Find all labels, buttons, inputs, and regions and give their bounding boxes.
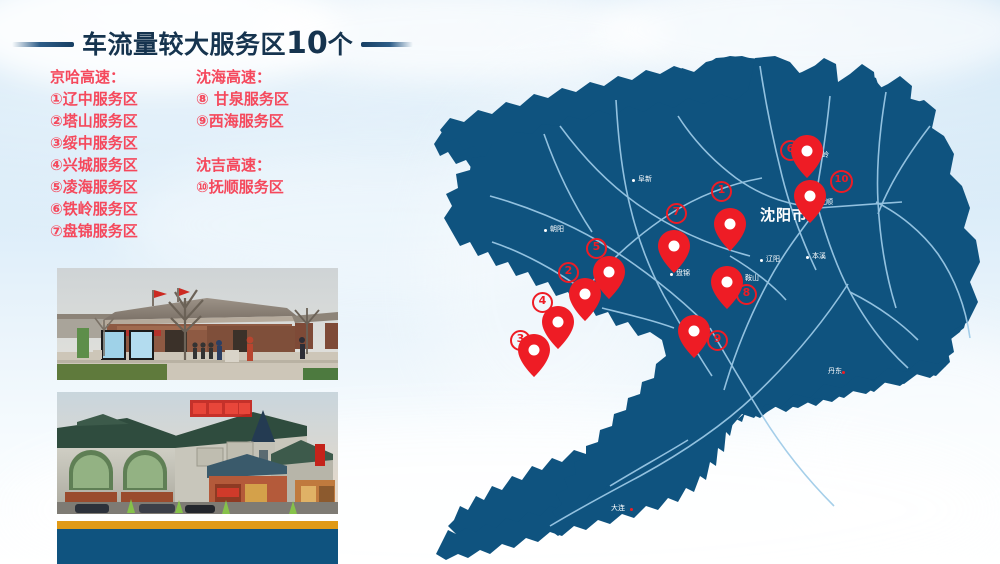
title-unit-text: 个	[328, 30, 354, 59]
photo-accent-bar	[57, 521, 338, 529]
city-label-shenyang: 沈阳市	[760, 204, 808, 225]
city-dot-yingkou	[682, 322, 685, 325]
city-dot-chaoyang	[544, 229, 547, 232]
city-label-chaoyang: 朝阳	[550, 224, 564, 234]
list-item[interactable]: ⑩抚顺服务区	[196, 176, 346, 198]
list-item[interactable]: ⑦盘锦服务区	[50, 220, 180, 242]
service-area-list: 京哈高速： ①辽中服务区 ②塔山服务区 ③绥中服务区 ④兴城服务区 ⑤凌海服务区…	[50, 66, 380, 242]
marker-number-1[interactable]: 1	[711, 181, 732, 202]
list-item[interactable]: ③绥中服务区	[50, 132, 180, 154]
group-heading-shenji: 沈吉高速：	[196, 154, 346, 176]
title-main-text: 车流量较大服务区	[82, 30, 286, 59]
city-dot-dandong	[842, 371, 845, 374]
marker-number-3[interactable]: 3	[510, 330, 531, 351]
photo-service-area-building	[57, 392, 338, 514]
city-label-yingkou: 营口	[688, 317, 702, 327]
city-label-fuxin: 阜新	[638, 174, 652, 184]
group-heading-shenhai: 沈海高速：	[196, 66, 346, 88]
marker-number-4[interactable]: 4	[532, 292, 553, 313]
list-item[interactable]: ②塔山服务区	[50, 110, 180, 132]
slide-canvas: 车流量较大服务区10个 京哈高速： ①辽中服务区 ②塔山服务区 ③绥中服务区 ④…	[0, 0, 1000, 564]
list-item[interactable]: ⑨西海服务区	[196, 110, 346, 132]
city-label-jinzhou: 锦州	[604, 276, 618, 286]
marker-number-10[interactable]: 10	[830, 170, 853, 193]
city-dot-panjin	[670, 273, 673, 276]
city-dot-fushun	[813, 202, 816, 205]
photo-caption-block	[57, 529, 338, 564]
city-label-dandong: 丹东	[828, 366, 842, 376]
map-artwork	[430, 56, 1000, 564]
title-count-number: 10	[286, 26, 328, 61]
list-column-shenhai-shenji: 沈海高速： ⑧ 甘泉服务区 ⑨西海服务区 沈吉高速： ⑩抚顺服务区	[196, 66, 346, 242]
city-dot-dalian	[630, 508, 633, 511]
list-item[interactable]: ⑥铁岭服务区	[50, 198, 180, 220]
marker-number-8[interactable]: 8	[736, 284, 757, 305]
city-label-panjin: 盘锦	[676, 268, 690, 278]
list-item[interactable]: ⑤凌海服务区	[50, 176, 180, 198]
city-dot-anshan	[739, 278, 742, 281]
photo-1-artwork	[57, 268, 338, 380]
marker-number-6[interactable]: 6	[780, 140, 801, 161]
city-dot-fuxin	[632, 179, 635, 182]
city-dot-tieling	[809, 155, 812, 158]
liaoning-province-map: 铁岭 抚顺 沈阳市 阜新 朝阳 锦州 盘锦 辽阳 本溪 鞍山 营口 丹东 大连	[430, 56, 1000, 564]
city-dot-liaoyang	[760, 259, 763, 262]
marker-number-7[interactable]: 7	[666, 203, 687, 224]
city-label-liaoyang: 辽阳	[766, 254, 780, 264]
city-label-benxi: 本溪	[812, 251, 826, 261]
title-rule-left-icon	[12, 42, 74, 47]
title-rule-right-icon	[361, 42, 413, 47]
page-title: 车流量较大服务区10个	[12, 26, 432, 62]
list-spacer	[196, 132, 346, 154]
city-dot-jinzhou	[598, 281, 601, 284]
photo-2-artwork	[57, 392, 338, 514]
list-item[interactable]: ⑧ 甘泉服务区	[196, 88, 346, 110]
marker-number-2[interactable]: 2	[558, 262, 579, 283]
list-column-jingha: 京哈高速： ①辽中服务区 ②塔山服务区 ③绥中服务区 ④兴城服务区 ⑤凌海服务区…	[50, 66, 180, 242]
city-label-anshan: 鞍山	[745, 273, 759, 283]
city-label-dalian: 大连	[611, 503, 625, 513]
group-heading-jingha: 京哈高速：	[50, 66, 180, 88]
city-dot-benxi	[806, 256, 809, 259]
city-label-tieling: 铁岭	[815, 150, 829, 160]
marker-number-9[interactable]: 9	[707, 330, 728, 351]
marker-number-5[interactable]: 5	[586, 238, 607, 259]
city-label-fushun: 抚顺	[819, 197, 833, 207]
photo-service-area-exterior	[57, 268, 338, 380]
page-title-text: 车流量较大服务区10个	[82, 29, 353, 59]
list-item[interactable]: ④兴城服务区	[50, 154, 180, 176]
list-item[interactable]: ①辽中服务区	[50, 88, 180, 110]
